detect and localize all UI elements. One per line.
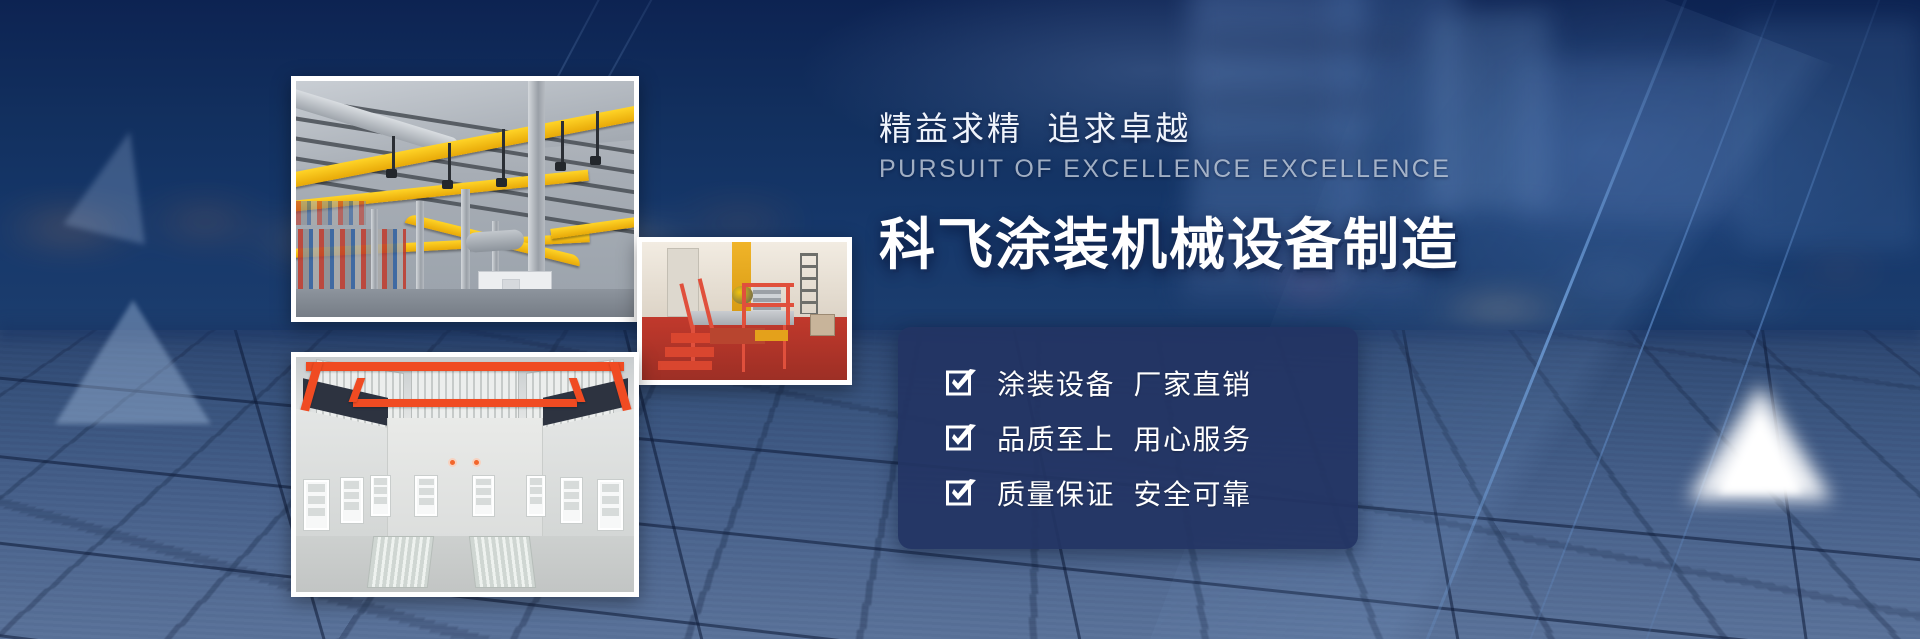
red-platform-scene: [642, 242, 847, 380]
checkbox-checked-icon: [946, 423, 976, 453]
glowing-triangle-core: [1718, 415, 1802, 493]
tagline: 精益求精 追求卓越: [879, 108, 1579, 149]
feature-list-box: 涂装设备 厂家直销 品质至上 用心服务 质量保证 安全可靠: [898, 327, 1358, 549]
feature-label: 涂装设备 厂家直销: [997, 363, 1252, 403]
spray-booth-scene: [296, 357, 634, 592]
feature-label: 质量保证 安全可靠: [997, 473, 1252, 513]
feature-label: 品质至上 用心服务: [997, 418, 1252, 458]
decorative-triangle-lower: [55, 300, 211, 424]
feature-item: 涂装设备 厂家直销: [946, 355, 1358, 410]
feature-item: 质量保证 安全可靠: [946, 465, 1358, 520]
page-title: 科飞涂装机械设备制造: [879, 200, 1579, 281]
banner-text-block: 精益求精 追求卓越 PURSUIT OF EXCELLENCE EXCELLEN…: [879, 108, 1579, 281]
subtitle-english: PURSUIT OF EXCELLENCE EXCELLENCE: [879, 155, 1579, 184]
photo-booth[interactable]: [291, 352, 639, 597]
hero-banner: 精益求精 追求卓越 PURSUIT OF EXCELLENCE EXCELLEN…: [0, 0, 1920, 639]
feature-item: 品质至上 用心服务: [946, 410, 1358, 465]
checkbox-checked-icon: [946, 368, 976, 398]
conveyor-hall-scene: [296, 81, 634, 317]
photo-platform[interactable]: [637, 237, 852, 385]
checkbox-checked-icon: [946, 478, 976, 508]
photo-conveyor[interactable]: [291, 76, 639, 322]
